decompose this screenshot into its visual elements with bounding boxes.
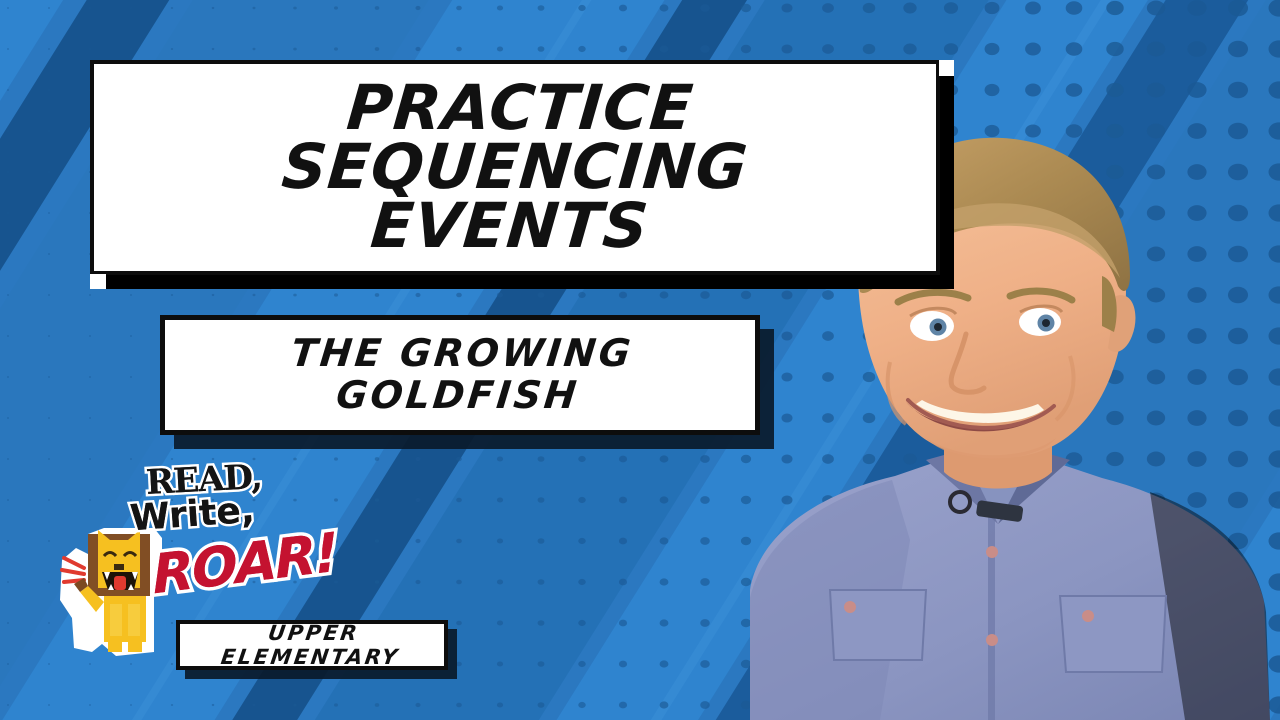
title-notch-bottom-left (90, 274, 106, 289)
page-title: PRACTICE SEQUENCING EVENTS (86, 79, 943, 256)
grade-level-badge: UPPER ELEMENTARY (176, 620, 448, 670)
title-line-2: EVENTS (112, 197, 907, 256)
slide-canvas: PRACTICE SEQUENCING EVENTS THE GROWING G… (0, 0, 1280, 720)
title-notch-top-right (939, 60, 954, 76)
grade-badge-label: UPPER ELEMENTARY (177, 621, 448, 669)
page-subtitle: THE GROWING GOLDFISH (267, 333, 654, 417)
title-card-panel: PRACTICE SEQUENCING EVENTS (90, 60, 940, 275)
subtitle-line-2: GOLDFISH (285, 375, 631, 417)
grade-badge-panel: UPPER ELEMENTARY (176, 620, 448, 670)
subtitle-card: THE GROWING GOLDFISH (160, 315, 760, 435)
title-line-1: PRACTICE SEQUENCING (117, 79, 917, 197)
main-title-card: PRACTICE SEQUENCING EVENTS (90, 60, 940, 275)
subtitle-line-1: THE GROWING (289, 333, 635, 375)
subtitle-card-panel: THE GROWING GOLDFISH (160, 315, 760, 435)
